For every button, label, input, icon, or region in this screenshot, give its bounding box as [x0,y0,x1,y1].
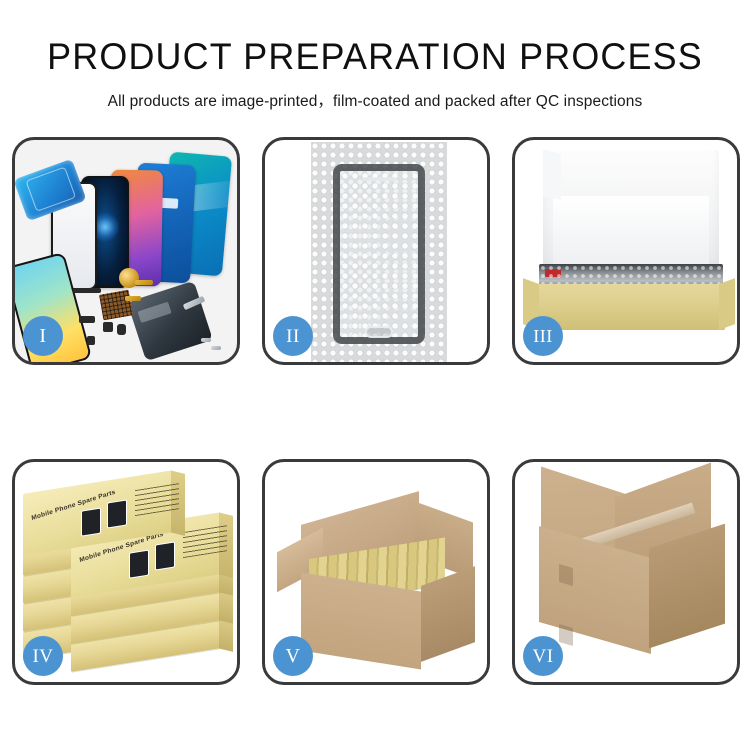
earpiece-slot-icon [362,177,396,181]
home-button-icon [365,326,393,338]
chip-part-icon [79,316,95,323]
page-subtitle: All products are image-printed，film-coat… [0,89,750,111]
process-row-1: I II [12,137,740,365]
chip-part-icon [73,288,101,293]
step-panel-3: III [512,137,740,365]
step-badge-2: II [273,316,313,356]
step-badge-4: IV [23,636,63,676]
wrapped-screen-icon [333,164,425,344]
carton-handle-notch-icon [559,624,573,646]
bubble-wrap-icon [311,142,447,362]
step-badge-6: VI [523,636,563,676]
carton-handle-notch-icon [559,564,573,586]
chip-part-icon [103,322,113,332]
page-title: PRODUCT PREPARATION PROCESS [11,38,739,75]
step-panel-5: V [262,459,490,685]
logic-board-icon [127,281,213,362]
step-panel-6: VI [512,459,740,685]
mesh-grid-icon [99,290,133,321]
step-badge-3: III [523,316,563,356]
screw-icon [211,346,221,350]
process-row-2: Mobile Phone Spare Parts Mobile Phone Sp… [12,459,740,685]
screw-icon [201,338,211,342]
header: PRODUCT PREPARATION PROCESS All products… [0,0,750,111]
chip-part-icon [87,336,95,345]
speaker-coil-icon [119,268,139,288]
chip-part-icon [117,324,126,335]
flex-cable-icon [135,280,153,285]
box-print-label: Mobile Phone Spare Parts [31,489,116,522]
kraft-inner-box-icon [533,284,725,330]
step-panel-1: I [12,137,240,365]
product-preparation-infographic: PRODUCT PREPARATION PROCESS All products… [0,0,750,750]
step-badge-5: V [273,636,313,676]
step-badge-1: I [23,316,63,356]
foam-padding-icon [543,150,719,272]
step-panel-4: Mobile Phone Spare Parts Mobile Phone Sp… [12,459,240,685]
process-steps-grid: I II [12,137,740,685]
step-panel-2: II [262,137,490,365]
flex-cable-icon [125,296,141,301]
